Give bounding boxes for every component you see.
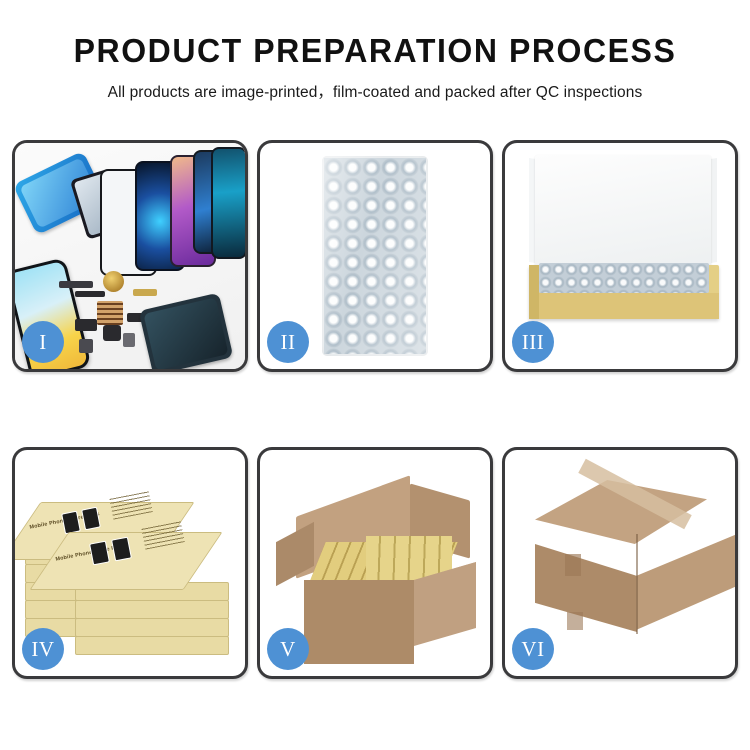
process-step-2: II [257,140,493,372]
stacked-box [75,618,229,637]
sim-tray-icon [79,339,93,353]
sealed-carton-front [535,528,637,632]
button-part-icon [123,333,135,347]
carton-tab-upper [565,554,581,576]
white-box-lid-icon [535,155,711,277]
process-step-5: V [257,447,493,679]
antenna-strip-icon [59,281,93,288]
step-badge-2: II [267,321,309,363]
bubble-wrapped-contents [539,263,709,293]
box-front-panel [529,293,719,319]
process-step-4: Mobile Phone Spare Parts Mobile Phone Sp… [12,447,248,679]
bubble-wrap-package-icon [322,156,428,356]
process-step-1: I [12,140,248,372]
process-step-3: III [502,140,738,372]
carton-flap-left [276,522,314,586]
step-badge-5: V [267,628,309,670]
carton-tab-lower [567,612,583,630]
page-subtitle: All products are image-printed，film-coat… [0,80,750,102]
small-part-icon [75,319,97,331]
plastic-sheen [322,156,428,356]
page-title: PRODUCT PREPARATION PROCESS [11,34,739,67]
page-header: PRODUCT PREPARATION PROCESS All products… [0,0,750,102]
stacked-box [75,636,229,655]
camera-module-icon [103,325,121,341]
step-badge-3: III [512,321,554,363]
step-badge-6: VI [512,628,554,670]
stacked-box [75,600,229,619]
sealed-carton-side [636,534,735,638]
connector-chip-icon [97,301,123,325]
gold-flex-cable-icon [133,289,157,296]
phone-display-teal-icon [211,147,245,259]
process-step-grid: I II III [12,140,738,679]
box-left-edge [529,265,539,319]
step-badge-4: IV [22,628,64,670]
flex-cable-icon [75,291,105,297]
carton-corner-crease [636,534,638,634]
speaker-part-icon [103,271,124,292]
step-badge-1: I [22,321,64,363]
carton-front-panel [304,580,414,664]
process-step-6: VI [502,447,738,679]
